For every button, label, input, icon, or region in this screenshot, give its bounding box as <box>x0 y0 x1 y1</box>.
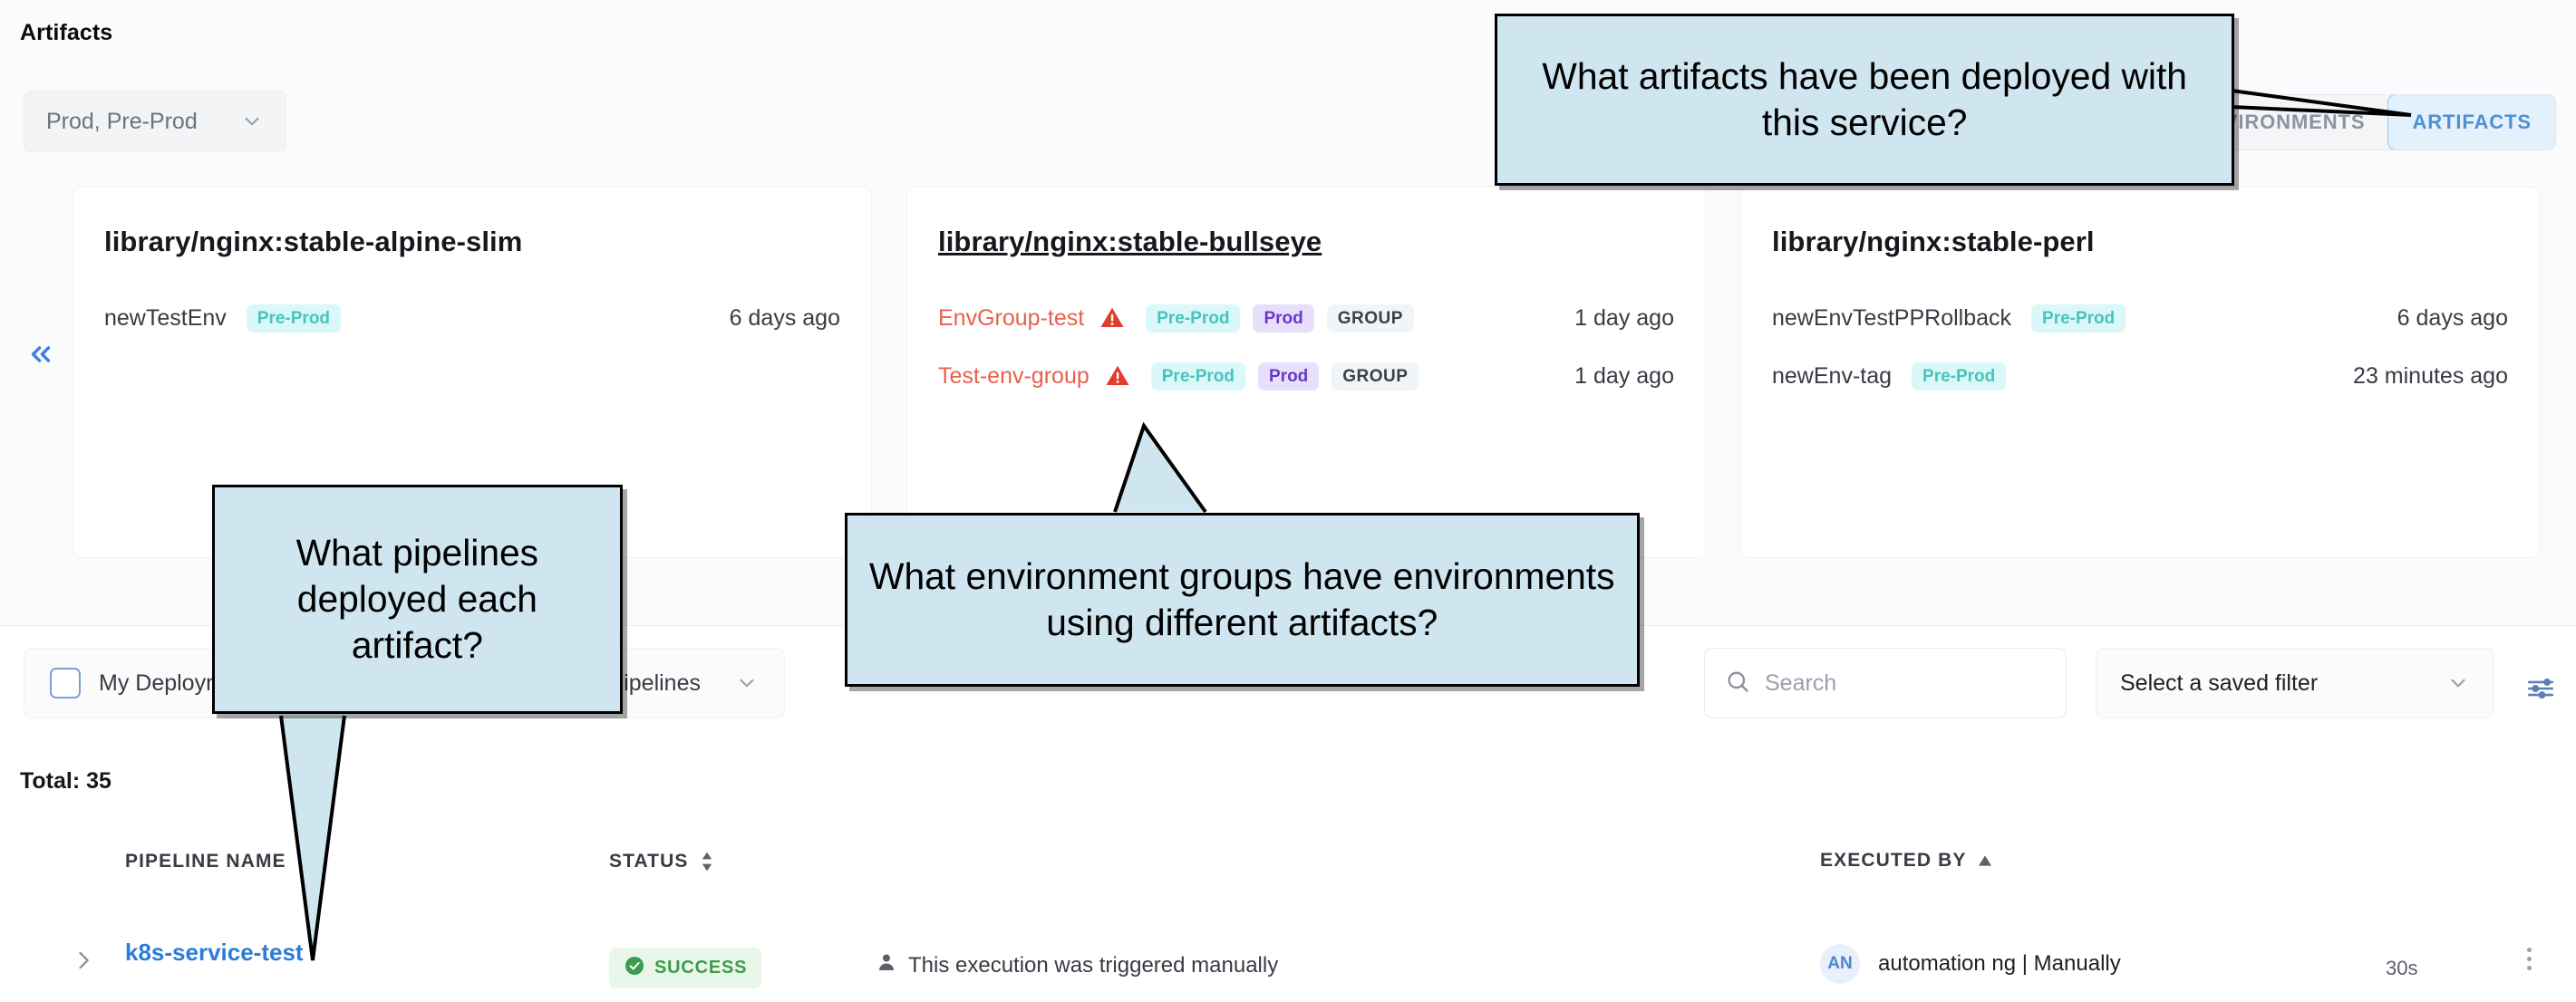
duration-text: 30s <box>2386 957 2417 980</box>
environment-filter-value: Prod, Pre-Prod <box>46 109 198 135</box>
badge-pre-prod: Pre-Prod <box>1151 362 1245 390</box>
environment-badges: Pre-Prod Prod GROUP <box>1151 362 1419 390</box>
trigger-info: This execution was triggered manually <box>876 951 1278 979</box>
column-label: EXECUTED BY <box>1820 850 1966 872</box>
status-badge: SUCCESS <box>609 948 761 988</box>
pipeline-name-link[interactable]: k8s-service-test <box>125 939 304 967</box>
column-header-pipeline-name[interactable]: PIPELINE NAME <box>125 850 314 873</box>
executed-by-text: automation ng | Manually <box>1878 951 2121 977</box>
tab-artifacts[interactable]: ARTIFACTS <box>2387 94 2556 150</box>
badge-pre-prod: Pre-Prod <box>2031 304 2126 332</box>
artifact-card[interactable]: library/nginx:stable-perl newEnvTestPPRo… <box>1740 187 2540 558</box>
warning-triangle-icon <box>1099 304 1126 332</box>
environment-row[interactable]: newEnv-tag Pre-Prod 23 minutes ago <box>1772 354 2508 398</box>
row-actions-menu-button[interactable] <box>2527 948 2532 970</box>
environment-name[interactable]: EnvGroup-test <box>938 305 1084 332</box>
executed-by-cell: AN automation ng | Manually <box>1820 944 2121 984</box>
artifact-environment-rows: EnvGroup-test Pre-Prod Prod GROUP 1 day … <box>938 296 1674 398</box>
column-label: STATUS <box>609 851 688 872</box>
avatar: AN <box>1820 944 1860 984</box>
environment-name[interactable]: newEnv-tag <box>1772 363 1892 390</box>
artifact-title[interactable]: library/nginx:stable-alpine-slim <box>104 226 840 258</box>
environment-badges: Pre-Prod <box>1912 362 2006 390</box>
column-header-executed-by[interactable]: EXECUTED BY <box>1820 850 1993 872</box>
callout-artifacts: What artifacts have been deployed with t… <box>1495 14 2234 186</box>
page-title: Artifacts <box>20 20 112 46</box>
saved-filter-dropdown[interactable]: Select a saved filter <box>2096 648 2494 718</box>
table-row[interactable]: k8s-service-test SUCCESS This execution … <box>0 935 2576 1002</box>
status-text: SUCCESS <box>654 958 747 978</box>
environment-deploy-time: 23 minutes ago <box>2353 363 2508 390</box>
badge-prod: Prod <box>1253 304 1313 332</box>
environment-name[interactable]: newEnvTestPPRollback <box>1772 305 2011 332</box>
environment-row[interactable]: Test-env-group Pre-Prod Prod GROUP 1 day… <box>938 354 1674 398</box>
callout-environment-groups: What environment groups have environment… <box>845 513 1640 687</box>
expand-row-chevron-icon[interactable] <box>71 948 96 978</box>
chevron-down-icon <box>735 671 759 695</box>
search-icon <box>1725 669 1750 699</box>
sort-icon[interactable] <box>297 850 314 873</box>
more-vertical-icon <box>2527 948 2532 970</box>
table-header: PIPELINE NAME STATUS EXECUTED BY <box>0 850 2576 904</box>
sort-ascending-icon[interactable] <box>1977 854 1993 867</box>
badge-prod: Prod <box>1258 362 1319 390</box>
environment-name[interactable]: Test-env-group <box>938 363 1089 390</box>
saved-filter-value: Select a saved filter <box>2120 670 2318 697</box>
badge-pre-prod: Pre-Prod <box>1146 304 1240 332</box>
check-circle-icon <box>624 955 645 981</box>
badge-group: GROUP <box>1332 362 1419 390</box>
user-icon <box>876 951 897 979</box>
badge-pre-prod: Pre-Prod <box>1912 362 2006 390</box>
column-label: PIPELINE NAME <box>125 851 286 872</box>
badge-pre-prod: Pre-Prod <box>247 304 341 332</box>
environment-deploy-time: 6 days ago <box>2397 305 2508 332</box>
artifact-environment-rows: newEnvTestPPRollback Pre-Prod 6 days ago… <box>1772 296 2508 398</box>
sort-icon[interactable] <box>699 850 715 873</box>
environment-row[interactable]: newEnvTestPPRollback Pre-Prod 6 days ago <box>1772 296 2508 340</box>
chevron-down-icon <box>240 110 264 133</box>
environment-filter-dropdown[interactable]: Prod, Pre-Prod <box>24 91 286 152</box>
environment-name[interactable]: newTestEnv <box>104 305 227 332</box>
environment-deploy-time: 1 day ago <box>1574 363 1674 390</box>
search-placeholder: Search <box>1765 670 1836 697</box>
artifact-environment-rows: newTestEnv Pre-Prod 6 days ago <box>104 296 840 340</box>
artifact-card[interactable]: library/nginx:stable-bullseye EnvGroup-t… <box>906 187 1706 558</box>
artifact-title[interactable]: library/nginx:stable-perl <box>1772 226 2508 258</box>
environment-badges: Pre-Prod <box>247 304 341 332</box>
trigger-text: This execution was triggered manually <box>908 953 1278 978</box>
filter-settings-button[interactable] <box>2525 673 2556 708</box>
chevron-double-left-icon <box>25 339 56 374</box>
chevron-down-icon <box>2446 671 2470 695</box>
environment-badges: Pre-Prod Prod GROUP <box>1146 304 1414 332</box>
environment-row[interactable]: newTestEnv Pre-Prod 6 days ago <box>104 296 840 340</box>
search-field[interactable]: Search <box>1704 648 2067 718</box>
environment-row[interactable]: EnvGroup-test Pre-Prod Prod GROUP 1 day … <box>938 296 1674 340</box>
artifact-title[interactable]: library/nginx:stable-bullseye <box>938 226 1674 258</box>
collapse-panel-button[interactable] <box>20 335 62 377</box>
callout-pipelines: What pipelines deployed each artifact? <box>212 485 623 715</box>
environment-deploy-time: 1 day ago <box>1574 305 1674 332</box>
environment-deploy-time: 6 days ago <box>730 305 840 332</box>
badge-group: GROUP <box>1327 304 1414 332</box>
total-count: Total: 35 <box>20 768 111 795</box>
my-deployments-checkbox[interactable] <box>50 668 81 699</box>
executions-table: Total: 35 PIPELINE NAME STATUS EXECUTED … <box>0 743 2576 1002</box>
warning-triangle-icon <box>1104 362 1131 390</box>
environment-badges: Pre-Prod <box>2031 304 2126 332</box>
column-header-status[interactable]: STATUS <box>609 850 715 873</box>
app-root: Artifacts Prod, Pre-Prod ENVIRONMENTS AR… <box>0 0 2576 1002</box>
sliders-icon <box>2525 692 2556 708</box>
